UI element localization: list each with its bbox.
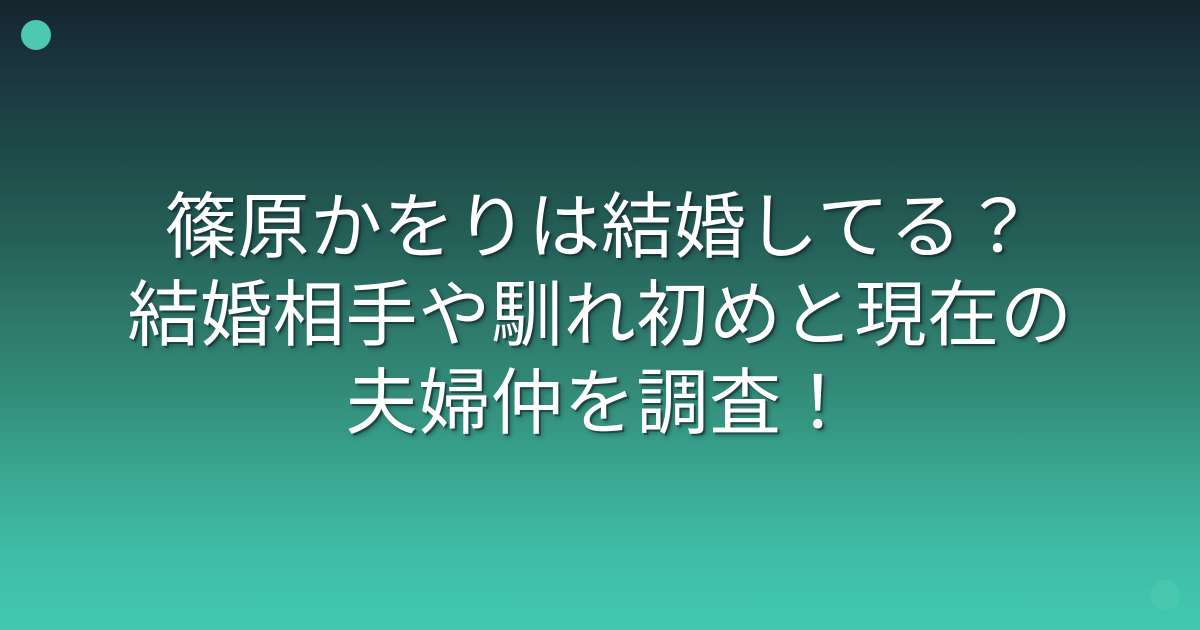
title-line-3: 夫婦仲を調査！	[40, 359, 1160, 447]
ogp-card: 篠原かをりは結婚してる？ 結婚相手や馴れ初めと現在の 夫婦仲を調査！	[0, 0, 1200, 630]
title-line-2: 結婚相手や馴れ初めと現在の	[40, 271, 1160, 359]
page-title: 篠原かをりは結婚してる？ 結婚相手や馴れ初めと現在の 夫婦仲を調査！	[0, 0, 1200, 630]
title-line-1: 篠原かをりは結婚してる？	[40, 183, 1160, 271]
